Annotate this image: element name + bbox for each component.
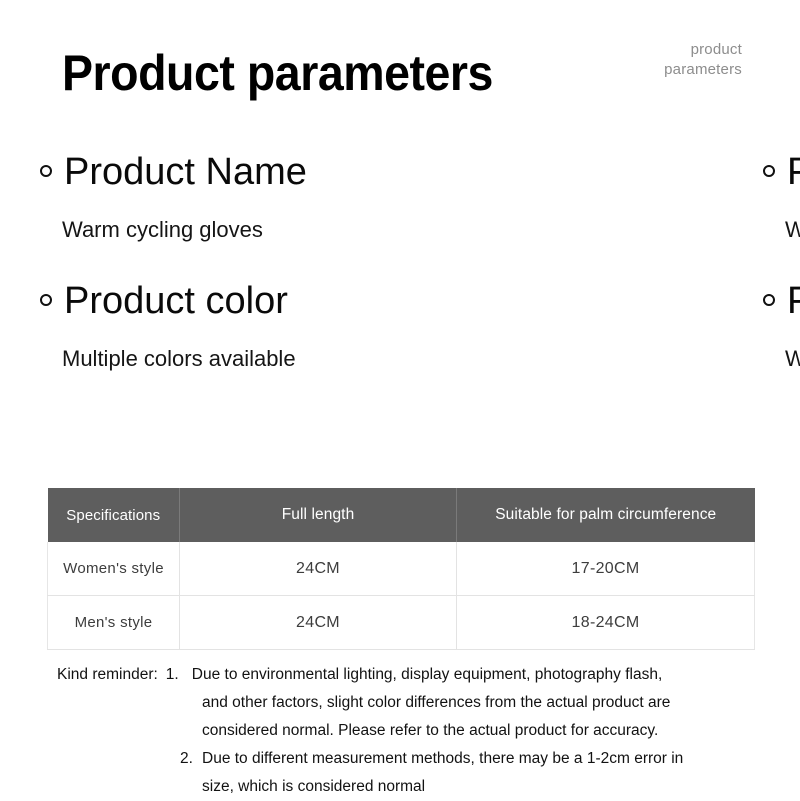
- reminder-item-1-line-1: Kind reminder: 1. Due to environmental l…: [57, 661, 767, 689]
- size-specification-table: Specifications Full length Suitable for …: [47, 488, 755, 650]
- reminder-text: Due to environmental lighting, display e…: [192, 661, 662, 689]
- table-header-row: Specifications Full length Suitable for …: [48, 488, 755, 542]
- spec-heading-label: Product features: [787, 150, 800, 194]
- watermark-line-2: parameters: [664, 60, 742, 80]
- reminder-label: Kind reminder:: [57, 661, 158, 689]
- page-title: Product parameters: [62, 47, 493, 99]
- table-row: Men's style 24CM 18-24CM: [48, 596, 755, 650]
- spec-value-text: Multiple colors available: [62, 345, 380, 373]
- spec-value-text: Women's style: [785, 345, 800, 373]
- reminder-text: considered normal. Please refer to the a…: [202, 717, 658, 745]
- reminder-text: and other factors, slight color differen…: [202, 689, 670, 717]
- table-cell-style-name: Men's style: [48, 596, 180, 650]
- table-column-header-palm-circumference: Suitable for palm circumference: [457, 488, 755, 542]
- reminder-text: Due to different measurement methods, th…: [202, 745, 683, 773]
- spec-heading-label: Product color: [64, 279, 288, 323]
- hollow-circle-bullet-icon: [40, 294, 52, 306]
- reminder-item-1-line-3: considered normal. Please refer to the a…: [57, 717, 767, 745]
- spec-value-text: Warm cycling gloves: [62, 216, 380, 244]
- hollow-circle-bullet-icon: [763, 165, 775, 177]
- spec-heading: Product color: [40, 273, 380, 329]
- spec-item-product-name: Product Name Warm cycling gloves: [0, 144, 380, 244]
- spec-heading: Product features: [763, 144, 800, 200]
- reminder-item-2-line-2: size, which is considered normal: [57, 773, 767, 801]
- table-cell-full-length: 24CM: [180, 596, 457, 650]
- table-row: Women's style 24CM 17-20CM: [48, 542, 755, 596]
- spec-heading-label: Product style: [787, 279, 800, 323]
- table-cell-style-name: Women's style: [48, 542, 180, 596]
- watermark: product parameters: [664, 40, 742, 80]
- spec-item-product-color: Product color Multiple colors available: [0, 273, 380, 373]
- reminder-number-2: 2.: [180, 745, 202, 773]
- watermark-line-1: product: [664, 40, 742, 60]
- kind-reminder-block: Kind reminder: 1. Due to environmental l…: [57, 661, 767, 801]
- hollow-circle-bullet-icon: [40, 165, 52, 177]
- table-column-header-specifications: Specifications: [48, 488, 180, 542]
- table-cell-palm-circumference: 18-24CM: [457, 596, 755, 650]
- spec-value-text: Warm and non slip touch screen: [785, 216, 800, 244]
- reminder-text: size, which is considered normal: [202, 773, 425, 801]
- reminder-number-1: 1.: [158, 661, 192, 689]
- spec-item-product-features: Product features Warm and non slip touch…: [380, 144, 800, 244]
- spec-row: Product color Multiple colors available …: [0, 273, 800, 373]
- spec-heading: Product Name: [40, 144, 380, 200]
- reminder-item-2-line-1: 2. Due to different measurement methods,…: [57, 745, 767, 773]
- hollow-circle-bullet-icon: [763, 294, 775, 306]
- product-parameters-grid: Product Name Warm cycling gloves Product…: [0, 144, 800, 373]
- spec-item-product-style: Product style Women's style: [380, 273, 800, 373]
- table-cell-full-length: 24CM: [180, 542, 457, 596]
- reminder-item-1-line-2: and other factors, slight color differen…: [57, 689, 767, 717]
- spec-heading-label: Product Name: [64, 150, 307, 194]
- spec-row: Product Name Warm cycling gloves Product…: [0, 144, 800, 244]
- table-column-header-full-length: Full length: [180, 488, 457, 542]
- table-cell-palm-circumference: 17-20CM: [457, 542, 755, 596]
- spec-heading: Product style: [763, 273, 800, 329]
